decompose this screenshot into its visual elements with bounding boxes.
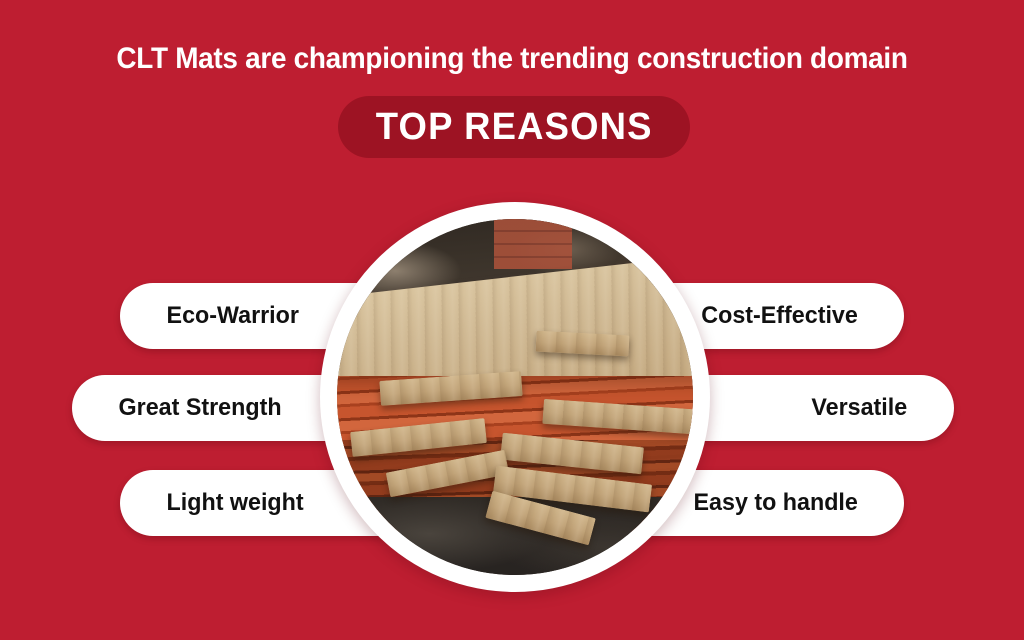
reason-label: Versatile bbox=[812, 394, 954, 422]
reason-label: Cost-Effective bbox=[701, 302, 904, 330]
stacked-timber-mats-photo bbox=[337, 219, 693, 575]
reason-label: Great Strength bbox=[72, 394, 282, 422]
page-title: CLT Mats are championing the trending co… bbox=[36, 42, 988, 76]
center-photo-ring bbox=[320, 202, 710, 592]
infographic-canvas: CLT Mats are championing the trending co… bbox=[0, 0, 1024, 640]
top-reasons-badge: TOP REASONS bbox=[338, 96, 690, 158]
reason-label: Eco-Warrior bbox=[120, 302, 299, 330]
top-reasons-badge-label: TOP REASONS bbox=[376, 106, 653, 149]
reason-label: Light weight bbox=[120, 489, 304, 517]
reason-label: Easy to handle bbox=[693, 489, 904, 517]
photo-brick-pile bbox=[494, 219, 572, 269]
photo-scene bbox=[337, 219, 693, 575]
